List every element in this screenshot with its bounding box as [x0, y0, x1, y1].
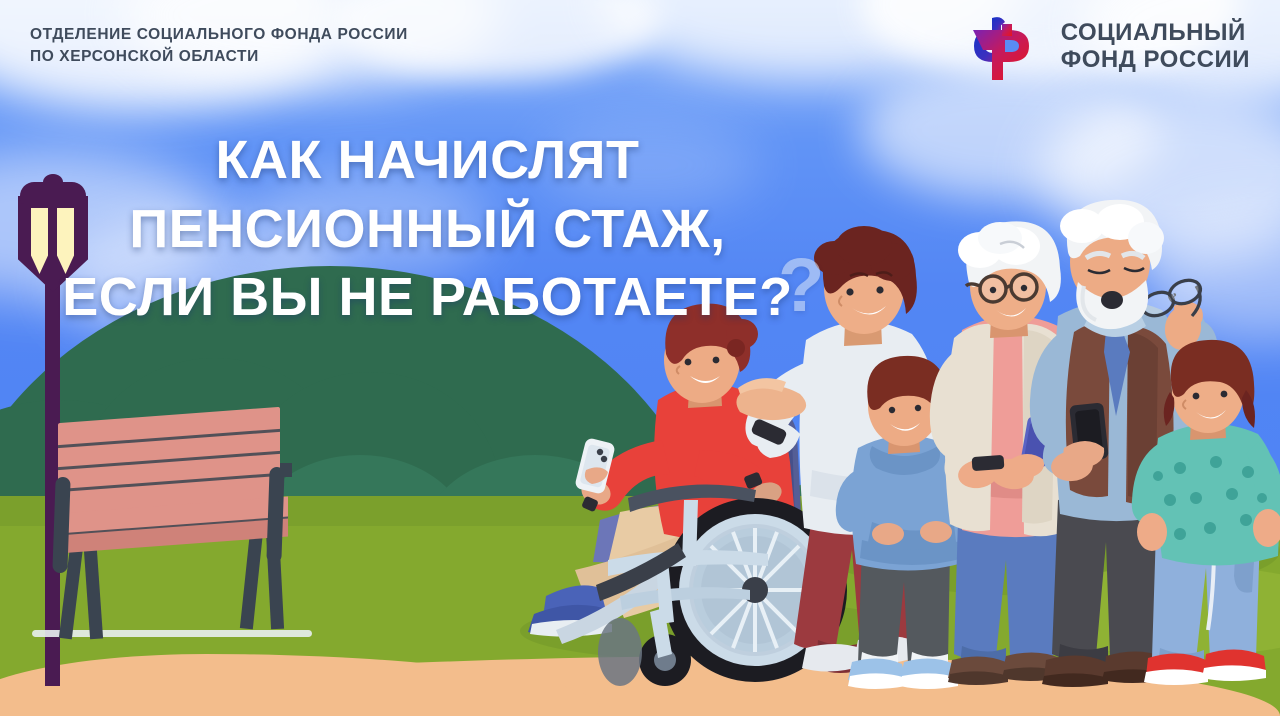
org-line-1: ОТДЕЛЕНИЕ СОЦИАЛЬНОГО ФОНДА РОССИИ	[30, 24, 408, 46]
sfr-monogram-icon	[969, 14, 1045, 80]
headline-line-1: КАК НАЧИСЛЯТ	[0, 126, 855, 195]
headline-line-2: ПЕНСИОННЫЙ СТАЖ,	[0, 195, 855, 264]
headline-line-3: ЕСЛИ ВЫ НЕ РАБОТАЕТЕ?	[0, 263, 855, 332]
logo-text-line-2: ФОНД РОССИИ	[1061, 47, 1250, 74]
org-line-2: ПО ХЕРСОНСКОЙ ОБЛАСТИ	[30, 46, 408, 68]
poster-canvas: ? ОТДЕЛЕНИЕ СОЦИАЛЬНОГО ФОНДА РОССИИ ПО …	[0, 0, 1280, 716]
logo-wordmark: СОЦИАЛЬНЫЙ ФОНД РОССИИ	[1061, 20, 1250, 74]
page-title: КАК НАЧИСЛЯТ ПЕНСИОННЫЙ СТАЖ, ЕСЛИ ВЫ НЕ…	[0, 126, 855, 332]
sfr-logo: СОЦИАЛЬНЫЙ ФОНД РОССИИ	[969, 14, 1250, 80]
organization-label: ОТДЕЛЕНИЕ СОЦИАЛЬНОГО ФОНДА РОССИИ ПО ХЕ…	[30, 24, 408, 69]
people-group	[0, 0, 1280, 716]
logo-text-line-1: СОЦИАЛЬНЫЙ	[1061, 20, 1250, 47]
